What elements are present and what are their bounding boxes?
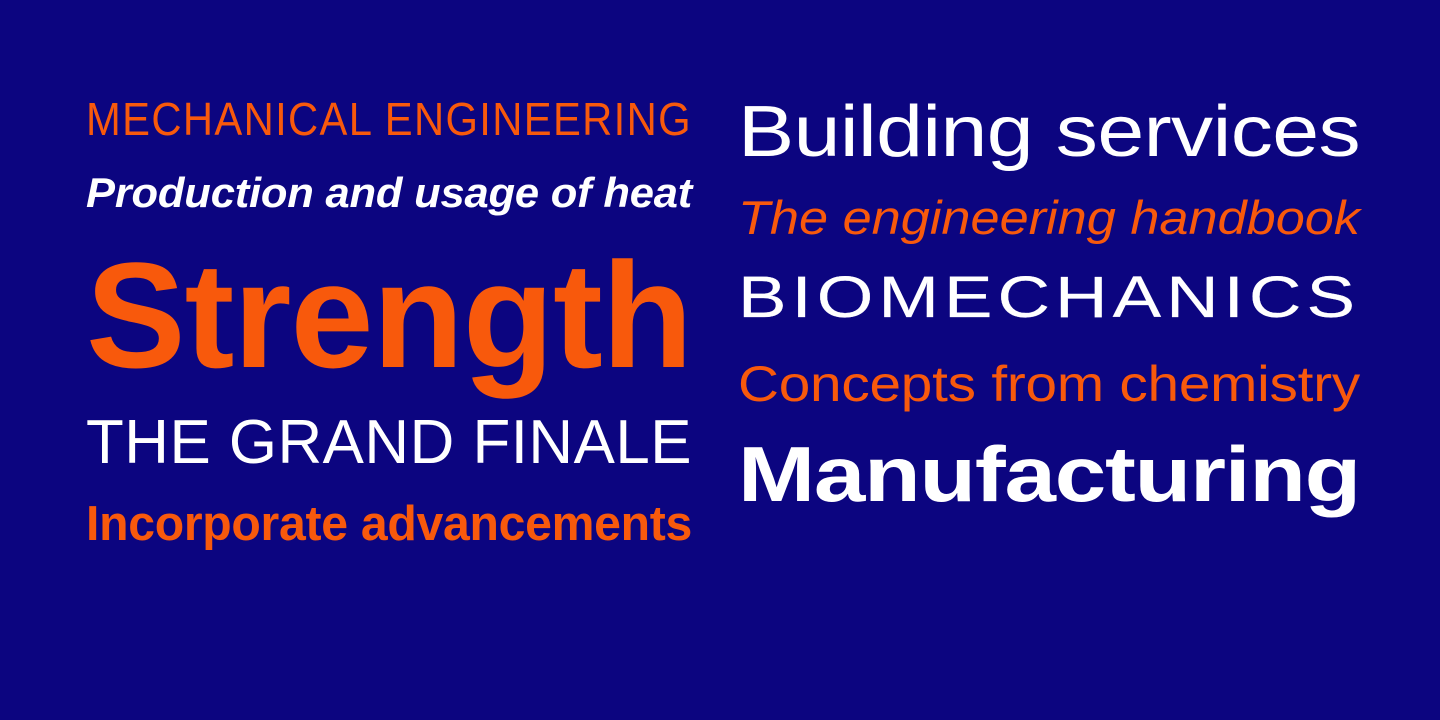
left-specimen-column: MECHANICAL ENGINEERING Production and us… [0, 0, 720, 720]
specimen-line-text: Concepts from chemistry [738, 359, 1360, 409]
specimen-line-text: Manufacturing [738, 435, 1360, 513]
specimen-line-text: MECHANICAL ENGINEERING [86, 96, 692, 142]
specimen-line-biomechanics: BIOMECHANICS [738, 269, 1360, 327]
specimen-line-text: Incorporate advancements [86, 500, 692, 549]
specimen-line-building-services: Building services [738, 96, 1360, 168]
specimen-line-text: BIOMECHANICS [738, 269, 1360, 327]
specimen-line-text: Building services [738, 96, 1360, 168]
specimen-columns: MECHANICAL ENGINEERING Production and us… [0, 0, 1440, 720]
specimen-line-incorporate-advancements: Incorporate advancements [86, 500, 692, 549]
specimen-line-mechanical-engineering: MECHANICAL ENGINEERING [86, 96, 692, 142]
specimen-line-the-grand-finale: THE GRAND FINALE [86, 412, 692, 474]
specimen-line-strength: Strength [86, 240, 692, 390]
specimen-line-text: Production and usage of heat [86, 172, 692, 214]
specimen-line-text: The engineering handbook [738, 194, 1360, 241]
type-specimen-poster: MECHANICAL ENGINEERING Production and us… [0, 0, 1440, 720]
specimen-line-production-and-usage-of-heat: Production and usage of heat [86, 172, 692, 214]
specimen-line-text: THE GRAND FINALE [86, 412, 692, 474]
specimen-line-text: Strength [86, 240, 692, 390]
specimen-line-the-engineering-handbook: The engineering handbook [738, 194, 1360, 241]
right-specimen-column: Building services The engineering handbo… [720, 0, 1440, 720]
specimen-line-concepts-from-chemistry: Concepts from chemistry [738, 359, 1360, 409]
specimen-line-manufacturing: Manufacturing [738, 435, 1360, 513]
